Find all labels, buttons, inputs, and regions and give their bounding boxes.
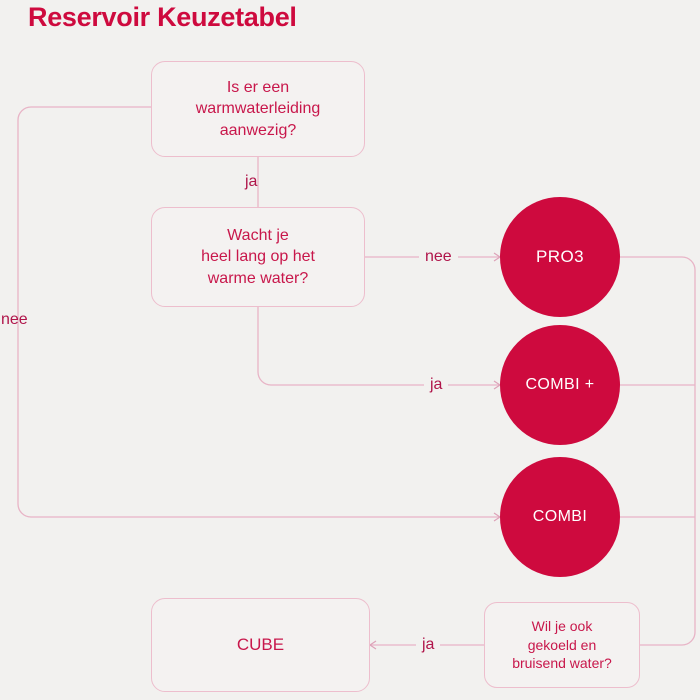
result-circle-combi-plus[interactable]: COMBI + [500, 325, 620, 445]
result-circle-pro3[interactable]: PRO3 [500, 197, 620, 317]
decision-box-gekoeld-bruisend-label: Wil je ook gekoeld en bruisend water? [512, 617, 612, 672]
edge-label-q1-nee: nee [1, 312, 28, 328]
flowchart-canvas: Reservoir Keuzetabel Is er een warmwater… [0, 0, 700, 700]
result-circle-pro3-label: PRO3 [536, 247, 584, 267]
edge-label-q1-ja: ja [245, 174, 257, 190]
edge-q1-nee [18, 107, 500, 517]
result-circle-combi-plus-label: COMBI + [525, 376, 594, 394]
result-circle-combi-label: COMBI [533, 508, 587, 526]
result-box-cube-label: CUBE [237, 634, 284, 656]
edge-pro3-bus [620, 257, 695, 645]
decision-box-gekoeld-bruisend[interactable]: Wil je ook gekoeld en bruisend water? [484, 602, 640, 688]
edge-label-q2-ja: ja [424, 377, 448, 393]
decision-box-warmwaterleiding[interactable]: Is er een warmwaterleiding aanwezig? [151, 61, 365, 157]
edge-label-q3-ja: ja [416, 637, 440, 653]
decision-box-warmwaterleiding-label: Is er een warmwaterleiding aanwezig? [196, 77, 321, 140]
edge-q2-ja [258, 307, 500, 385]
edge-label-q2-nee: nee [419, 249, 458, 265]
result-circle-combi[interactable]: COMBI [500, 457, 620, 577]
decision-box-wachttijd-label: Wacht je heel lang op het warme water? [201, 225, 315, 288]
result-box-cube[interactable]: CUBE [151, 598, 370, 692]
decision-box-wachttijd[interactable]: Wacht je heel lang op het warme water? [151, 207, 365, 307]
